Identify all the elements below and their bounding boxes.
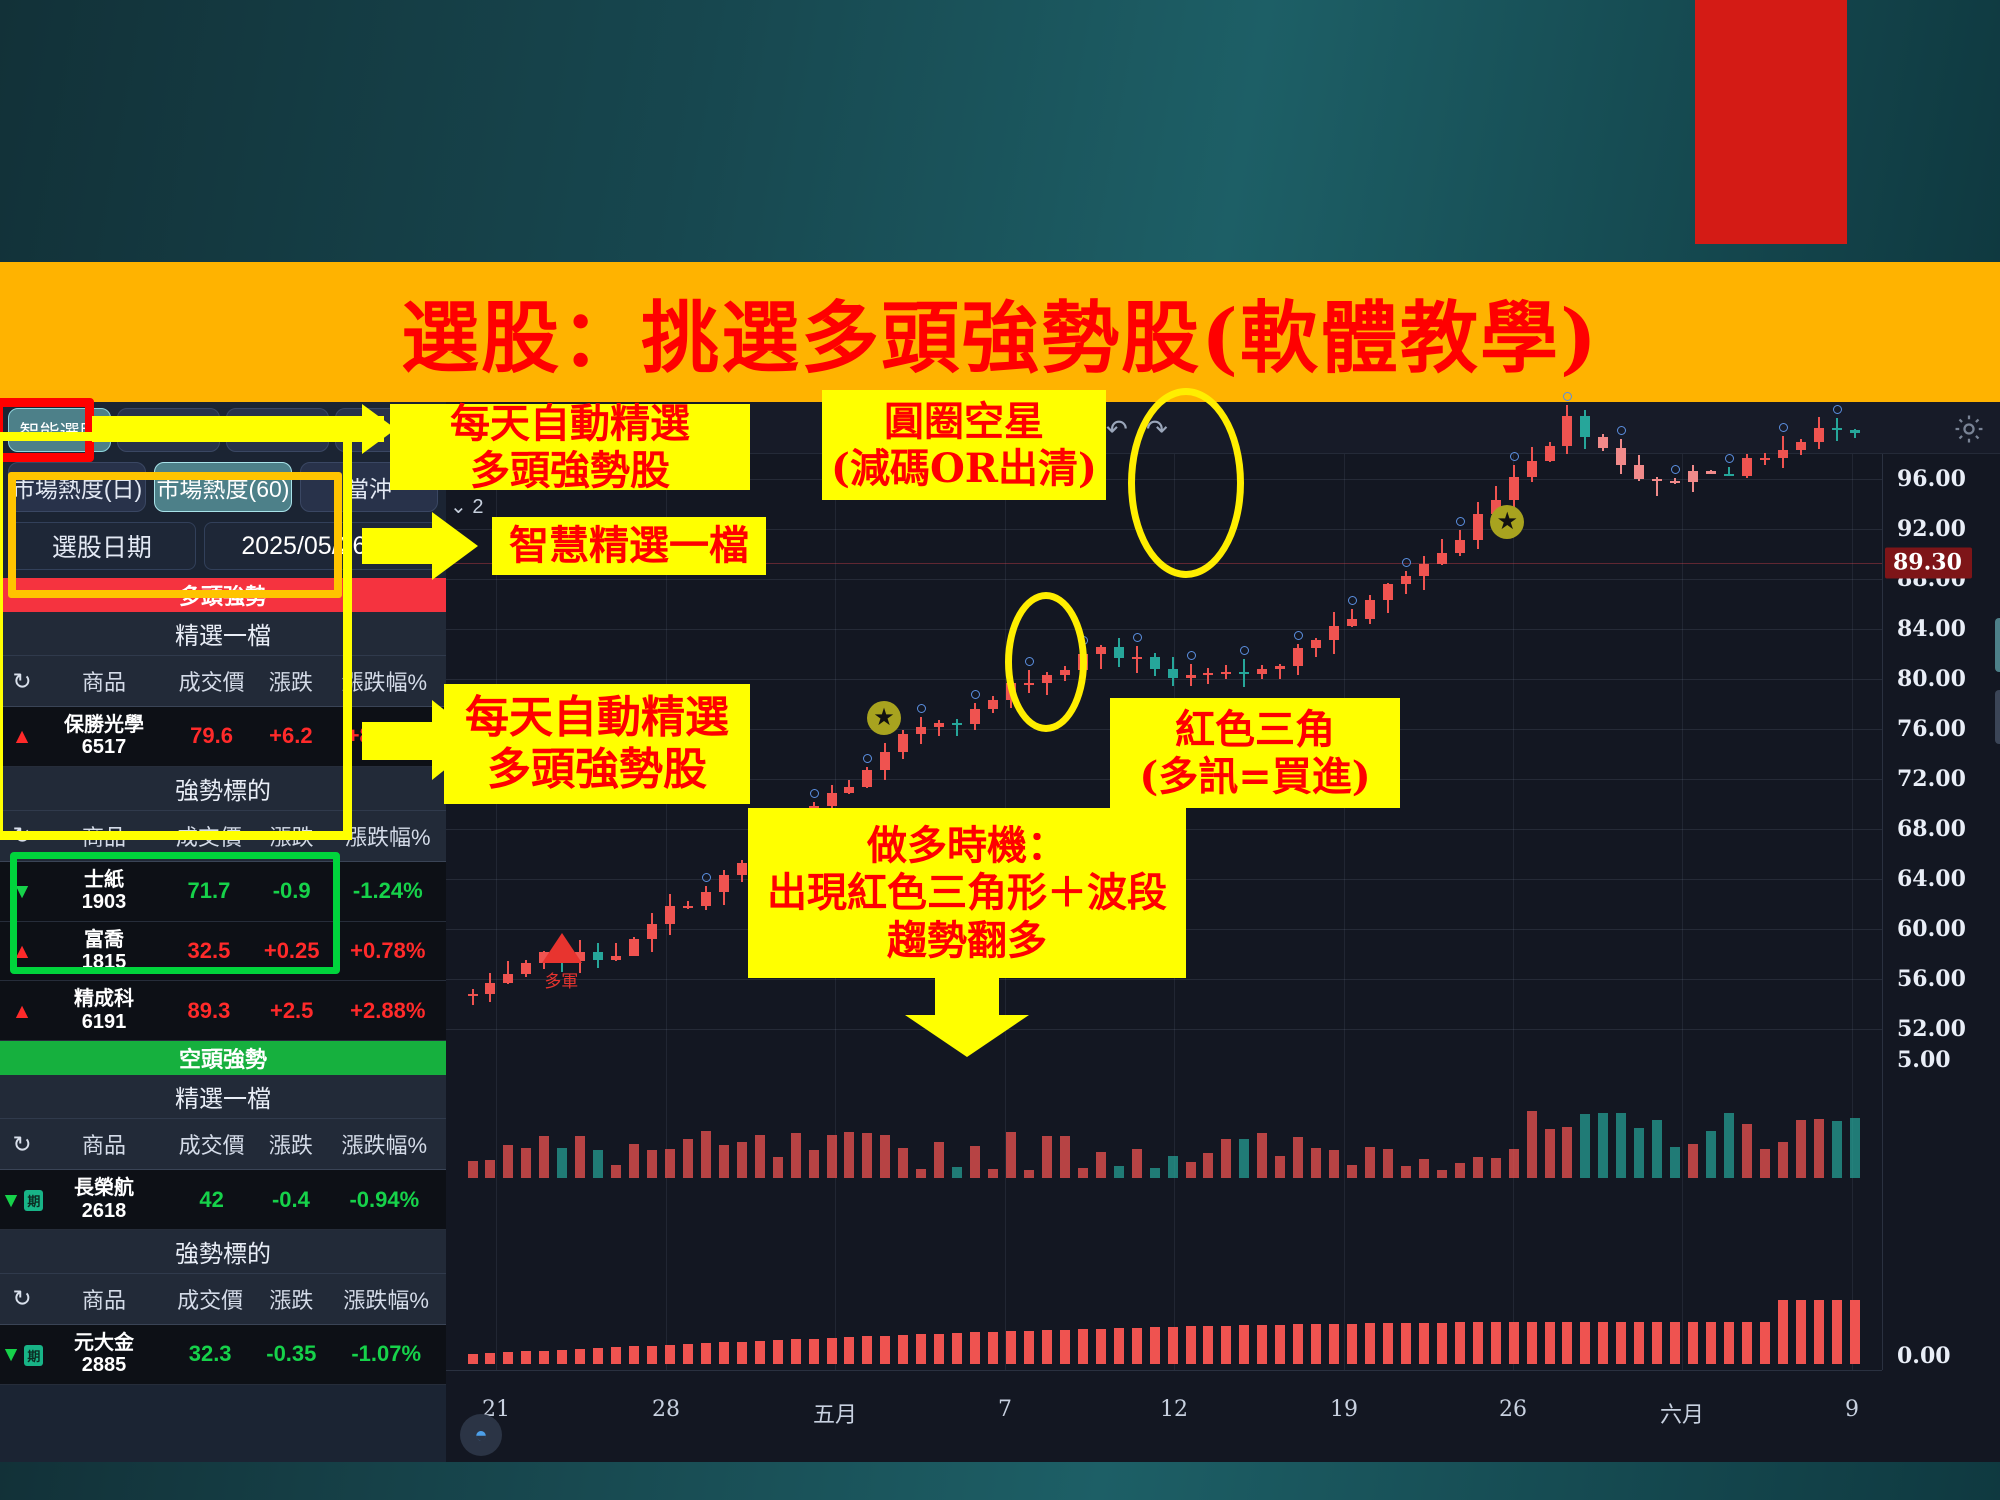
candlestick: [1562, 454, 1572, 1054]
price-tick-label: 60.00: [1897, 916, 1966, 942]
price-tick-label: 56.00: [1897, 966, 1966, 992]
signal-dot: [1456, 517, 1465, 526]
oscillator-bar: [1527, 1322, 1537, 1364]
oscillator-bar: [468, 1354, 478, 1364]
oscillator-bar: [557, 1350, 567, 1364]
oscillator-bar: [503, 1352, 513, 1364]
candlestick: [1706, 454, 1716, 1054]
oscillator-bar: [988, 1332, 998, 1364]
oscillator-bar: [1473, 1322, 1483, 1364]
oscillator-bar: [737, 1342, 747, 1364]
volume-bar: [1814, 1119, 1824, 1178]
candlestick: [1527, 454, 1537, 1054]
oscillator-bar: [1042, 1330, 1052, 1364]
volume-bar: [1509, 1149, 1519, 1178]
page-title: 選股：挑選多頭強勢股(軟體教學): [401, 276, 1599, 388]
oscillator-bar: [880, 1336, 890, 1364]
row-direction-icon: ▼期: [0, 1170, 44, 1230]
highlight-ellipse-top: [1128, 388, 1244, 578]
volume-bar: [1221, 1139, 1231, 1178]
volume-bar: [1239, 1139, 1249, 1178]
oscillator-bar: [952, 1333, 962, 1364]
signal-dot: [1510, 452, 1519, 461]
volume-bar: [1455, 1163, 1465, 1178]
volume-bar: [1006, 1132, 1016, 1178]
table-row[interactable]: ▼期 元大金 2885 32.3 -0.35 -1.07%: [0, 1324, 446, 1384]
oscillator-bar: [1419, 1323, 1429, 1364]
oscillator-bar: [1365, 1323, 1375, 1364]
time-tick-label: 六月: [1660, 1397, 1704, 1429]
volume-bar: [1042, 1136, 1052, 1178]
candlestick: [1742, 454, 1752, 1054]
signal-dot: [1833, 405, 1842, 414]
volume-bar: [952, 1167, 962, 1178]
candlestick: [1437, 454, 1447, 1054]
current-price-label: 89.30: [1885, 547, 1972, 578]
oscillator-bar: [755, 1341, 765, 1364]
oscillator-bar: [1150, 1327, 1160, 1364]
col-product[interactable]: 商品: [44, 1274, 164, 1325]
price-tick-label: 92.00: [1897, 516, 1966, 542]
volume-bar: [1347, 1165, 1357, 1178]
time-gridline: [496, 454, 497, 1370]
oscillator-bar: [1598, 1322, 1608, 1364]
oscillator-bar: [791, 1339, 801, 1364]
volume-bar: [916, 1169, 926, 1178]
oscillator-bar: [665, 1345, 675, 1364]
price-gridline: [446, 579, 1882, 580]
highlight-bearish-featured-frame: [10, 852, 340, 974]
annotation-long-timing-line2: 出現紅色三角形＋波段: [767, 869, 1167, 916]
volume-bar: [683, 1139, 693, 1178]
volume-bar: [755, 1135, 765, 1178]
time-tick-label: 28: [652, 1397, 680, 1422]
row-price: 32.3: [164, 1324, 256, 1384]
volume-bar: [862, 1133, 872, 1178]
oscillator-bar: [1006, 1331, 1016, 1364]
col-product[interactable]: 商品: [44, 1119, 164, 1170]
volume-tick-label: 5.00: [1897, 1047, 1951, 1073]
candlestick: [1401, 454, 1411, 1054]
time-tick-label: 五月: [813, 1397, 857, 1429]
volume-bar: [468, 1161, 478, 1178]
volume-bar: [1491, 1158, 1501, 1178]
oscillator-bar: [934, 1334, 944, 1364]
candlestick: [1832, 454, 1842, 1054]
volume-bar: [557, 1148, 567, 1178]
volume-bar: [737, 1142, 747, 1178]
row-product-name: 長榮航: [44, 1177, 164, 1199]
oscillator-bar: [611, 1347, 621, 1364]
col-change[interactable]: 漲跌: [256, 1274, 326, 1325]
page-title-bar: 選股：挑選多頭強勢股(軟體教學): [0, 262, 2000, 402]
col-price[interactable]: 成交價: [164, 1119, 259, 1170]
oscillator-bar: [1724, 1322, 1734, 1364]
bottom-decorative-strip: [0, 1462, 2000, 1500]
row-product: 元大金 2885: [44, 1324, 164, 1384]
bearish-featured-panel: 精選一檔 ↻ 商品 成交價 漲跌 漲跌幅% ▼期 長榮航 2618: [0, 1075, 446, 1230]
signal-dot: [1133, 633, 1142, 642]
table-row[interactable]: ▼期 長榮航 2618 42 -0.4 -0.94%: [0, 1170, 446, 1230]
candlestick: [1634, 454, 1644, 1054]
price-gridline: [446, 979, 1882, 980]
volume-bar: [988, 1169, 998, 1178]
oscillator-bar: [485, 1353, 495, 1364]
annotation-smart-pick: 智慧精選一檔: [492, 517, 766, 575]
price-axis[interactable]: 96.0092.0088.0084.0080.0076.0072.0068.00…: [1882, 454, 2000, 1370]
oscillator-bar: [1383, 1323, 1393, 1364]
annotation-auto-pick-mid-line2: 多頭強勢股: [487, 744, 707, 796]
volume-bar: [1329, 1150, 1339, 1178]
annotation-auto-pick-top-line2: 多頭強勢股: [470, 447, 670, 494]
candlestick: [1491, 454, 1501, 1054]
section-header-bearish: 空頭強勢: [0, 1041, 446, 1075]
annotation-auto-pick-top: 每天自動精選 多頭強勢股: [390, 404, 750, 490]
volume-bar: [1545, 1129, 1555, 1178]
oscillator-bar: [862, 1336, 872, 1364]
oscillator-bar: [629, 1346, 639, 1364]
signal-dot: [1617, 426, 1626, 435]
oscillator-bar: [683, 1344, 693, 1364]
price-tick-label: 68.00: [1897, 816, 1966, 842]
candlestick: [1616, 454, 1626, 1054]
highlight-ellipse-mid: [1005, 592, 1087, 732]
row-change-pct: -1.07%: [326, 1324, 446, 1384]
col-change-pct[interactable]: 漲跌幅%: [326, 1274, 446, 1325]
volume-bar: [1437, 1170, 1447, 1178]
volume-bar: [1401, 1166, 1411, 1178]
time-tick-label: 12: [1160, 1397, 1188, 1422]
row-price: 89.3: [164, 981, 254, 1041]
volume-bar: [1616, 1113, 1626, 1178]
signal-dot: [971, 690, 980, 699]
sidebar-collapse-handle-2[interactable]: [1995, 690, 2000, 744]
volume-bar: [1114, 1166, 1124, 1178]
annotation-long-timing-line3: 趨勢翻多: [887, 917, 1047, 964]
oscillator-bar: [1796, 1300, 1806, 1364]
oscillator-bar: [1706, 1322, 1716, 1364]
signal-dot: [1779, 423, 1788, 432]
oscillator-bar: [1114, 1328, 1124, 1364]
annotation-long-timing: 做多時機： 出現紅色三角形＋波段 趨勢翻多: [748, 808, 1186, 978]
candlestick: [1814, 454, 1824, 1054]
signal-dot: [1725, 454, 1734, 463]
volume-bar: [1562, 1127, 1572, 1178]
highlight-featured-one-outline: [8, 472, 342, 598]
oscillator-bar: [1670, 1322, 1680, 1364]
time-gridline: [1682, 454, 1683, 1370]
oscillator-bar: [1347, 1324, 1357, 1364]
oscillator-bar: [1491, 1322, 1501, 1364]
volume-bar: [503, 1145, 513, 1178]
oscillator-bar: [1778, 1300, 1788, 1364]
volume-bar: [1132, 1149, 1142, 1178]
volume-bar: [1383, 1149, 1393, 1178]
oscillator-bar: [844, 1337, 854, 1364]
oscillator-bar: [1203, 1326, 1213, 1364]
red-flag-decoration: [1695, 0, 1847, 244]
volume-bar: [1796, 1120, 1806, 1178]
volume-bar: [809, 1150, 819, 1178]
oscillator-bar: [1221, 1326, 1231, 1364]
volume-bar: [629, 1144, 639, 1178]
annotation-auto-pick-top-line1: 每天自動精選: [450, 400, 690, 447]
volume-bar: [880, 1135, 890, 1178]
oscillator-bar: [1509, 1322, 1519, 1364]
volume-bar: [1580, 1114, 1590, 1178]
annotation-hollow-star: 圓圈空星 (減碼OR出清): [822, 390, 1106, 500]
bearish-strong-title: 強勢標的: [0, 1230, 446, 1274]
volume-bar: [1724, 1113, 1734, 1178]
annotation-auto-pick-mid: 每天自動精選 多頭強勢股: [444, 684, 750, 804]
volume-bar: [1598, 1113, 1608, 1178]
oscillator-bar: [1742, 1322, 1752, 1364]
volume-bar: [1706, 1131, 1716, 1178]
time-tick-label: 19: [1330, 1397, 1358, 1422]
volume-bar: [701, 1131, 711, 1178]
refresh-icon[interactable]: ↻: [0, 1274, 44, 1325]
volume-bar: [1832, 1121, 1842, 1178]
volume-bar: [1024, 1170, 1034, 1178]
row-product: 精成科 6191: [44, 981, 164, 1041]
volume-bar: [1257, 1133, 1267, 1178]
indicator-icon[interactable]: ◓: [460, 1414, 502, 1456]
oscillator-bar: [773, 1340, 783, 1364]
oscillator-bar: [1293, 1324, 1303, 1364]
time-tick-label: 7: [998, 1397, 1012, 1422]
sidebar-collapse-handle-1[interactable]: [1995, 618, 2000, 672]
row-change-pct: -0.94%: [323, 1170, 446, 1230]
oscillator-bar: [719, 1342, 729, 1364]
oscillator-bar: [1652, 1322, 1662, 1364]
oscillator-bar: [1060, 1330, 1070, 1364]
row-product-name: 精成科: [44, 988, 164, 1010]
price-tick-label: 84.00: [1897, 616, 1966, 642]
annotation-smart-pick-line1: 智慧精選一檔: [509, 522, 749, 569]
row-change: -0.35: [256, 1324, 326, 1384]
hollow-star-icon: ★: [1490, 505, 1524, 539]
bearish-strong-panel: 強勢標的 ↻ 商品 成交價 漲跌 漲跌幅% ▼期 元大金 2885: [0, 1230, 446, 1385]
oscillator-bar: [1257, 1325, 1267, 1364]
futures-tag: 期: [24, 1190, 43, 1211]
price-tick-label: 76.00: [1897, 716, 1966, 742]
oscillator-bar: [827, 1338, 837, 1364]
oscillator-bar: [1168, 1327, 1178, 1364]
row-price: 42: [164, 1170, 259, 1230]
oscillator-bar: [1096, 1329, 1106, 1364]
price-gridline: [446, 679, 1882, 680]
candlestick: [1670, 454, 1680, 1054]
signal-dot: [810, 789, 819, 798]
row-product-code: 2618: [44, 1200, 164, 1222]
refresh-icon[interactable]: ↻: [0, 1119, 44, 1170]
candlestick: [1509, 454, 1519, 1054]
row-change-pct: -1.24%: [330, 861, 446, 921]
candlestick: [1580, 454, 1590, 1054]
oscillator-bar: [1401, 1323, 1411, 1364]
annotation-auto-pick-mid-line1: 每天自動精選: [465, 692, 729, 744]
signal-dot: [1240, 646, 1249, 655]
volume-bar: [1060, 1136, 1070, 1178]
volume-bar: [844, 1132, 854, 1178]
oscillator-bar: [1311, 1324, 1321, 1364]
oscillator-bar: [1760, 1322, 1770, 1364]
oscillator-bar: [647, 1346, 657, 1364]
volume-bar: [1365, 1147, 1375, 1178]
bearish-featured-title: 精選一檔: [0, 1075, 446, 1119]
time-tick-label: 26: [1499, 1397, 1527, 1422]
price-tick-label: 64.00: [1897, 866, 1966, 892]
oscillator-bar: [1186, 1326, 1196, 1364]
volume-bar: [1096, 1152, 1106, 1178]
annotation-long-timing-line1: 做多時機：: [867, 822, 1067, 869]
volume-bar: [1850, 1118, 1860, 1178]
volume-bar: [1742, 1124, 1752, 1178]
candlestick: [1652, 454, 1662, 1054]
buy-signal-triangle-icon: [542, 933, 582, 963]
candlestick: [1778, 454, 1788, 1054]
arrow-to-smart-pick: [362, 512, 482, 580]
annotation-red-triangle: 紅色三角 (多訊=買進): [1110, 698, 1400, 808]
row-direction-icon: ▼期: [0, 1324, 44, 1384]
col-change-pct[interactable]: 漲跌幅%: [323, 1119, 446, 1170]
volume-bar: [719, 1145, 729, 1178]
oscillator-bar: [1832, 1300, 1842, 1364]
volume-tick-label: 0.00: [1897, 1343, 1951, 1369]
volume-bar: [1168, 1156, 1178, 1178]
table-row[interactable]: ▲ 精成科 6191 89.3 +2.5 +2.88%: [0, 981, 446, 1041]
volume-bar: [827, 1135, 837, 1178]
oscillator-bar: [1562, 1322, 1572, 1364]
volume-bar: [898, 1148, 908, 1178]
row-change: +2.5: [254, 981, 330, 1041]
volume-bar: [1760, 1149, 1770, 1178]
volume-bar: [1275, 1156, 1285, 1179]
volume-bar: [611, 1165, 621, 1178]
volume-bar: [1078, 1168, 1088, 1178]
table-header-row: ↻ 商品 成交價 漲跌 漲跌幅%: [0, 1274, 446, 1325]
volume-bar: [485, 1160, 495, 1178]
oscillator-bar: [539, 1351, 549, 1364]
candlestick: [1419, 454, 1429, 1054]
volume-bar: [539, 1136, 549, 1178]
oscillator-bar: [916, 1334, 926, 1364]
oscillator-bar: [1616, 1322, 1626, 1364]
signal-dot: [702, 873, 711, 882]
col-price[interactable]: 成交價: [164, 1274, 256, 1325]
annotation-hollow-star-line1: 圓圈空星: [884, 398, 1044, 445]
top-decorative-banner: [0, 0, 2000, 262]
time-tick-label: 9: [1845, 1397, 1859, 1422]
price-tick-label: 96.00: [1897, 466, 1966, 492]
annotation-red-triangle-line2: (多訊=買進): [1139, 753, 1370, 800]
volume-bar: [575, 1136, 585, 1178]
row-change-pct: +0.78%: [330, 921, 446, 981]
signal-dot: [1187, 651, 1196, 660]
volume-bar: [773, 1157, 783, 1178]
candlestick: [1545, 454, 1555, 1054]
price-gridline: [446, 1029, 1882, 1030]
bearish-featured-table: ↻ 商品 成交價 漲跌 漲跌幅% ▼期 長榮航 2618 42 -0.4 -0.…: [0, 1119, 446, 1230]
volume-bar: [1419, 1159, 1429, 1178]
row-product-name: 元大金: [44, 1332, 164, 1354]
signal-dot: [1671, 465, 1680, 474]
signal-dot: [1348, 596, 1357, 605]
oscillator-bar: [1024, 1331, 1034, 1364]
volume-bar: [1473, 1157, 1483, 1178]
bearish-strong-table: ↻ 商品 成交價 漲跌 漲跌幅% ▼期 元大金 2885 32.3 -0.35 …: [0, 1274, 446, 1385]
time-gridline: [1344, 454, 1345, 1370]
row-product-code: 2885: [44, 1354, 164, 1376]
oscillator-bar: [809, 1339, 819, 1364]
volume-bar: [1670, 1147, 1680, 1179]
row-change-pct: +2.88%: [330, 981, 446, 1041]
col-change[interactable]: 漲跌: [259, 1119, 322, 1170]
oscillator-bar: [1329, 1324, 1339, 1364]
oscillator-bar: [1455, 1322, 1465, 1364]
oscillator-bar: [1437, 1323, 1447, 1364]
price-tick-label: 80.00: [1897, 666, 1966, 692]
arrow-down-to-oscillator: [905, 975, 1029, 1057]
candlestick: [1473, 454, 1483, 1054]
volume-bar: [647, 1150, 657, 1179]
volume-bar: [791, 1133, 801, 1178]
oscillator-bar: [593, 1348, 603, 1364]
oscillator-bar: [1078, 1329, 1088, 1364]
oscillator-bar: [970, 1332, 980, 1364]
row-direction-icon: ▲: [0, 981, 44, 1041]
price-tick-label: 72.00: [1897, 766, 1966, 792]
oscillator-bar: [521, 1351, 531, 1364]
time-axis[interactable]: 2128五月7121926六月9: [446, 1370, 1882, 1462]
volume-bar: [1634, 1128, 1644, 1178]
row-product: 長榮航 2618: [44, 1170, 164, 1230]
row-product-code: 6191: [44, 1011, 164, 1033]
tab-day-trade-label: 當沖: [346, 470, 392, 504]
candlestick: [1455, 454, 1465, 1054]
oscillator-bar: [1132, 1328, 1142, 1364]
candlestick: [1796, 454, 1806, 1054]
volume-bar: [1186, 1162, 1196, 1178]
price-gridline: [446, 629, 1882, 630]
volume-bar: [934, 1142, 944, 1178]
candlestick: [1598, 454, 1608, 1054]
volume-bar: [593, 1150, 603, 1178]
oscillator-bar: [1239, 1325, 1249, 1364]
oscillator-bar: [1634, 1322, 1644, 1364]
oscillator-bar: [1275, 1325, 1285, 1364]
volume-bar: [1150, 1168, 1160, 1178]
candlestick: [1760, 454, 1770, 1054]
volume-bar: [1688, 1144, 1698, 1178]
undo-icon[interactable]: ↶: [1106, 414, 1128, 445]
oscillator-bar: [1850, 1300, 1860, 1364]
volume-bar: [970, 1146, 980, 1178]
candlestick: [1724, 454, 1734, 1054]
gear-icon[interactable]: [1952, 412, 1986, 446]
volume-bar: [1652, 1120, 1662, 1178]
oscillator-bar: [898, 1335, 908, 1364]
price-tick-label: 52.00: [1897, 1016, 1966, 1042]
annotation-hollow-star-line2: (減碼OR出清): [831, 445, 1097, 492]
signal-dot: [1563, 392, 1572, 401]
oscillator-bar: [701, 1343, 711, 1364]
candlestick: [1688, 454, 1698, 1054]
volume-bar: [1203, 1153, 1213, 1178]
oscillator-bar: [1814, 1300, 1824, 1364]
table-header-row: ↻ 商品 成交價 漲跌 漲跌幅%: [0, 1119, 446, 1170]
volume-bar: [1293, 1137, 1303, 1178]
